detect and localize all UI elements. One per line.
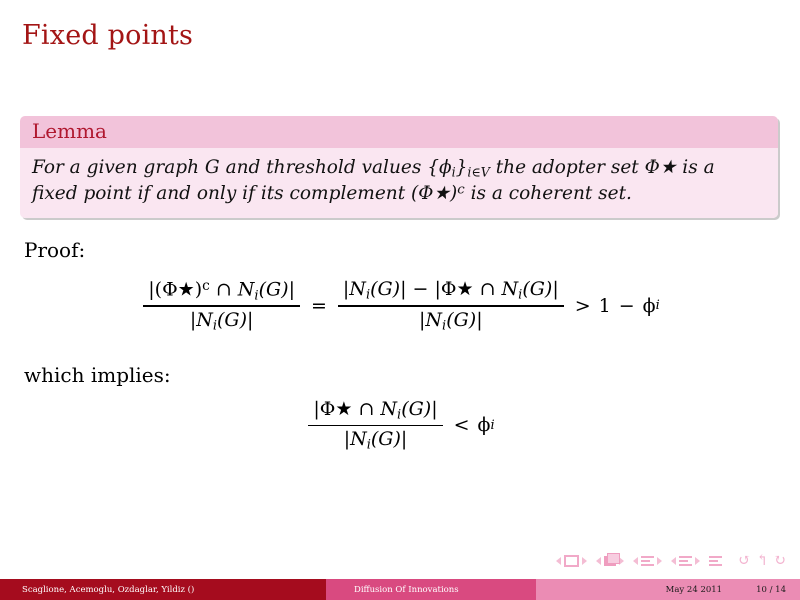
page-title: Fixed points [22, 20, 193, 51]
fraction-denominator: |Ni(G)| [339, 426, 413, 453]
fraction-denominator: |Ni(G)| [414, 307, 488, 334]
which-implies-label: which implies: [24, 363, 171, 387]
forward-icon[interactable]: ↻ [773, 554, 786, 569]
phi-star-symbol: Φ★ [645, 157, 677, 178]
graph-argument: (G) [259, 279, 289, 301]
lemma-text-segment: fixed point if and only if its complemen… [32, 183, 411, 204]
fraction-numerator: |Φ★ ∩ Ni(G)| [308, 398, 442, 425]
complement-superscript: c [457, 183, 464, 198]
equation-two: |Φ★ ∩ Ni(G)| |Ni(G)| < ϕi [0, 398, 800, 453]
fraction-denominator: |Ni(G)| [185, 307, 259, 334]
search-icon[interactable]: ↰ [756, 554, 769, 569]
footer-meta: May 24 2011 10 / 14 [536, 579, 800, 600]
lemma-text-segment: is a [676, 157, 714, 178]
lemma-text-segment: and threshold values [220, 157, 428, 178]
lemma-body: For a given graph G and threshold values… [20, 148, 778, 218]
lemma-brace-open: { [427, 157, 439, 178]
complement-superscript: c [202, 278, 210, 294]
presentation-navigation-group[interactable] [709, 556, 722, 566]
neighborhood-symbol: |N [343, 278, 366, 300]
section-icon[interactable] [679, 556, 692, 566]
footer-date: May 24 2011 [666, 585, 722, 595]
slide-icon[interactable] [564, 555, 579, 567]
neighborhood-symbol: |N [190, 309, 213, 331]
phi-star-symbol: Φ★ [320, 398, 353, 420]
footer-page-number: 10 / 14 [756, 585, 786, 595]
previous-subsection-icon[interactable] [633, 557, 638, 565]
proof-label: Proof: [24, 238, 85, 262]
slide-navigation-group[interactable] [556, 555, 587, 567]
footer-bar: Scaglione, Acemoglu, Ozdaglar, Yildiz ()… [0, 579, 800, 600]
subsection-icon[interactable] [641, 556, 654, 566]
footer-authors: Scaglione, Acemoglu, Ozdaglar, Yildiz () [0, 579, 326, 600]
phi-symbol: ϕ [478, 414, 491, 436]
footer-talk-title: Diffusion Of Innovations [326, 579, 536, 600]
phi-star-symbol: Φ★ [418, 183, 450, 204]
graph-argument: (G)| [522, 278, 558, 300]
equation-one-lhs-fraction: |(Φ★)c ∩ Ni(G)| |Ni(G)| [143, 278, 300, 334]
neighborhood-symbol: N [502, 278, 519, 300]
phi-subscript: i [656, 298, 660, 313]
abs-close: | [289, 279, 295, 301]
fraction-numerator: |Ni(G)| − |Φ★ ∩ Ni(G)| [338, 278, 564, 305]
phi-subscript: i [490, 418, 494, 433]
graph-argument: (G)| [370, 278, 406, 300]
frame-navigation-group[interactable] [596, 556, 624, 566]
next-section-icon[interactable] [695, 557, 700, 565]
paren-close: ) [195, 279, 202, 301]
fraction-numerator: |(Φ★)c ∩ Ni(G)| [143, 278, 300, 305]
neighborhood-symbol: N [238, 279, 255, 301]
phi-symbol: ϕ [439, 157, 452, 178]
equals-sign: = [311, 295, 327, 317]
subsection-navigation-group[interactable] [633, 556, 662, 566]
lemma-brace-close: } [456, 157, 468, 178]
next-subsection-icon[interactable] [657, 557, 662, 565]
intersection-symbol: ∩ [358, 398, 374, 420]
neighborhood-symbol: |N [344, 428, 367, 450]
lemma-header: Lemma [20, 116, 778, 148]
frame-icon[interactable] [604, 556, 616, 566]
phi-star-symbol: Φ★ [162, 279, 195, 301]
minus-sign: − [413, 278, 429, 300]
greater-than-sign: > [575, 295, 591, 317]
index-set-subscript: i∈V [467, 165, 489, 180]
graph-argument: (G)| [401, 398, 437, 420]
equation-two-fraction: |Φ★ ∩ Ni(G)| |Ni(G)| [308, 398, 442, 453]
phi-symbol: ϕ [643, 295, 656, 317]
section-navigation-group[interactable] [671, 556, 700, 566]
neighborhood-symbol: |N [419, 309, 442, 331]
graph-argument: (G)| [446, 309, 482, 331]
back-icon[interactable]: ↺ [738, 554, 751, 569]
phi-star-symbol: Φ★ [441, 278, 474, 300]
minus-sign: − [619, 295, 635, 317]
graph-argument: (G)| [371, 428, 407, 450]
intersection-symbol: ∩ [480, 278, 496, 300]
graph-argument: (G)| [217, 309, 253, 331]
lemma-text-segment: is a coherent set. [465, 183, 632, 204]
lemma-text-segment: For a given graph [32, 157, 205, 178]
intersection-symbol: ∩ [216, 279, 232, 301]
lemma-block: Lemma For a given graph G and threshold … [20, 116, 778, 218]
next-slide-icon[interactable] [582, 557, 587, 565]
beamer-navigation-bar[interactable]: ↺ ↰ ↻ [556, 552, 786, 570]
history-navigation-group[interactable]: ↺ ↰ ↻ [738, 554, 786, 569]
graph-symbol: G [205, 157, 220, 178]
previous-frame-icon[interactable] [596, 557, 601, 565]
neighborhood-symbol: N [380, 398, 397, 420]
presentation-icon[interactable] [709, 556, 722, 566]
one-literal: 1 [599, 295, 611, 317]
less-than-sign: < [454, 414, 470, 436]
lemma-text-segment: the adopter set [490, 157, 645, 178]
previous-slide-icon[interactable] [556, 557, 561, 565]
equation-one-rhs-fraction: |Ni(G)| − |Φ★ ∩ Ni(G)| |Ni(G)| [338, 278, 564, 333]
abs-open: |( [148, 279, 162, 301]
equation-one: |(Φ★)c ∩ Ni(G)| |Ni(G)| = |Ni(G)| − |Φ★ … [0, 278, 800, 334]
previous-section-icon[interactable] [671, 557, 676, 565]
